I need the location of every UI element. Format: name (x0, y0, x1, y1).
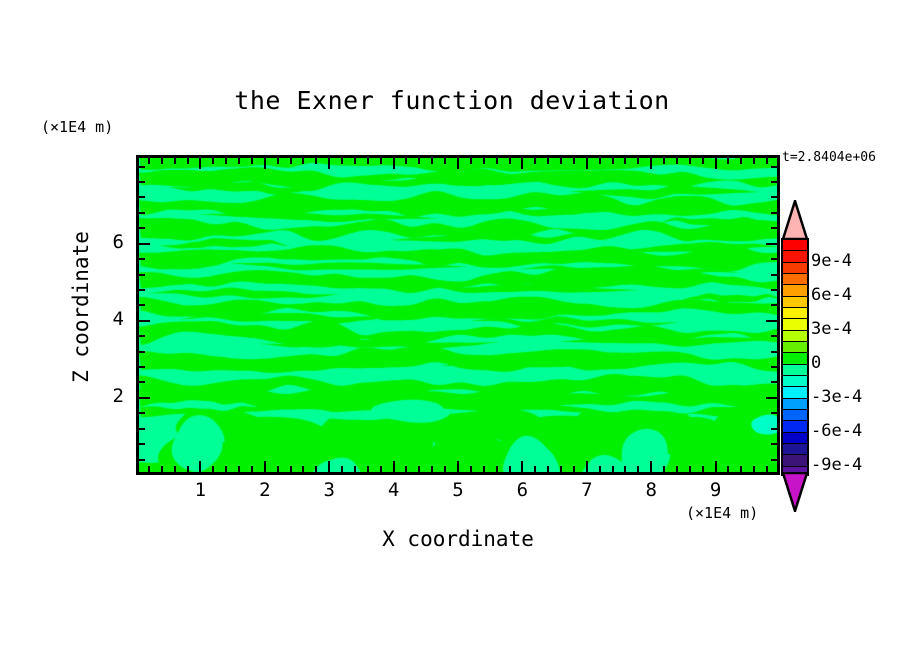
x-tick-top (405, 158, 407, 164)
x-tick-bottom (702, 466, 704, 472)
colorbar-bands (781, 238, 809, 476)
x-tick-bottom (637, 466, 639, 472)
x-tick-bottom (599, 466, 601, 472)
colorbar-band (783, 376, 807, 387)
x-tick-top (341, 158, 343, 164)
x-tick-bottom (315, 466, 317, 472)
x-tick-top (727, 158, 729, 164)
x-tick-top (148, 158, 150, 164)
colorbar-under-arrow-icon (781, 472, 809, 512)
x-tick-bottom (663, 466, 665, 472)
x-tick-bottom (727, 466, 729, 472)
x-tick-bottom (187, 466, 189, 472)
colorbar-band (783, 444, 807, 455)
y-axis-unit-label: (×1E4 m) (41, 118, 113, 136)
x-axis-unit-label: (×1E4 m) (686, 504, 758, 522)
x-tick-label: 9 (696, 479, 736, 501)
x-tick-top (715, 158, 717, 169)
x-tick-top (161, 158, 163, 164)
y-tick-left (139, 227, 145, 229)
x-tick-bottom (624, 466, 626, 472)
x-tick-bottom (405, 466, 407, 472)
x-tick-bottom (444, 466, 446, 472)
x-tick-bottom (367, 466, 369, 472)
x-tick-top (251, 158, 253, 164)
time-annotation: t=2.8404e+06 (782, 150, 876, 165)
y-tick-right (771, 428, 777, 430)
x-axis-title: X coordinate (136, 527, 780, 551)
y-tick-left (139, 459, 145, 461)
y-tick-right (771, 289, 777, 291)
x-tick-top (367, 158, 369, 164)
y-tick-right (771, 166, 777, 168)
x-tick-label: 4 (374, 479, 414, 501)
x-tick-bottom (161, 466, 163, 472)
colorbar-band (783, 455, 807, 466)
y-tick-left (139, 304, 145, 306)
x-tick-top (290, 158, 292, 164)
y-tick-right (771, 381, 777, 383)
colorbar-tick-label: 0 (811, 353, 821, 373)
y-tick-left (139, 443, 145, 445)
x-tick-top (277, 158, 279, 164)
colorbar-over-arrow-icon (781, 200, 809, 240)
colorbar-band (783, 331, 807, 342)
x-tick-bottom (225, 466, 227, 472)
x-tick-top (315, 158, 317, 164)
y-tick-left (139, 258, 145, 260)
x-tick-bottom (199, 461, 201, 472)
y-tick-left (139, 243, 150, 245)
y-tick-right (766, 320, 777, 322)
contour-field (139, 158, 780, 475)
x-tick-top (534, 158, 536, 164)
x-tick-label: 2 (245, 479, 285, 501)
x-tick-top (302, 158, 304, 164)
colorbar-tick-label: -6e-4 (811, 421, 862, 441)
x-tick-label: 1 (180, 479, 220, 501)
y-tick-right (771, 258, 777, 260)
x-tick-bottom (740, 466, 742, 472)
colorbar-band (783, 274, 807, 285)
x-tick-top (496, 158, 498, 164)
x-tick-top (521, 158, 523, 169)
x-tick-top (380, 158, 382, 164)
x-tick-top (676, 158, 678, 164)
x-tick-bottom (380, 466, 382, 472)
x-tick-bottom (418, 466, 420, 472)
x-tick-label: 5 (438, 479, 478, 501)
y-tick-label: 2 (84, 385, 124, 407)
x-tick-top (393, 158, 395, 169)
x-tick-bottom (277, 466, 279, 472)
colorbar-tick-label: 9e-4 (811, 251, 852, 271)
x-tick-bottom (521, 461, 523, 472)
y-tick-right (771, 351, 777, 353)
x-tick-bottom (715, 461, 717, 472)
x-tick-bottom (689, 466, 691, 472)
x-tick-bottom (341, 466, 343, 472)
y-tick-right (766, 243, 777, 245)
y-tick-left (139, 381, 145, 383)
x-tick-top (444, 158, 446, 164)
x-tick-top (650, 158, 652, 169)
x-tick-top (753, 158, 755, 164)
x-tick-top (573, 158, 575, 164)
x-tick-bottom (431, 466, 433, 472)
x-tick-top (470, 158, 472, 164)
x-tick-bottom (302, 466, 304, 472)
y-tick-right (771, 443, 777, 445)
x-tick-top (766, 158, 768, 164)
x-tick-top (599, 158, 601, 164)
x-tick-top (586, 158, 588, 169)
x-tick-bottom (573, 466, 575, 472)
x-tick-bottom (148, 466, 150, 472)
x-tick-bottom (650, 461, 652, 472)
y-tick-right (771, 335, 777, 337)
colorbar-band (783, 285, 807, 296)
x-tick-top (418, 158, 420, 164)
x-tick-top (483, 158, 485, 164)
colorbar-band (783, 433, 807, 444)
x-tick-top (354, 158, 356, 164)
x-tick-bottom (753, 466, 755, 472)
x-tick-label: 3 (309, 479, 349, 501)
colorbar-band (783, 240, 807, 251)
x-tick-bottom (393, 461, 395, 472)
x-tick-top (663, 158, 665, 164)
colorbar: 9e-46e-43e-40-3e-4-6e-4-9e-4 (781, 200, 809, 512)
x-tick-bottom (766, 466, 768, 472)
x-tick-bottom (328, 461, 330, 472)
colorbar-band (783, 263, 807, 274)
x-tick-top (689, 158, 691, 164)
y-tick-right (771, 412, 777, 414)
y-tick-left (139, 274, 145, 276)
x-tick-bottom (547, 466, 549, 472)
y-tick-left (139, 428, 145, 430)
y-tick-right (771, 227, 777, 229)
x-tick-bottom (586, 461, 588, 472)
x-tick-bottom (290, 466, 292, 472)
y-tick-right (771, 459, 777, 461)
x-tick-top (702, 158, 704, 164)
y-tick-left (139, 166, 145, 168)
x-tick-bottom (354, 466, 356, 472)
y-tick-left (139, 366, 145, 368)
y-tick-label: 4 (84, 308, 124, 330)
x-tick-bottom (174, 466, 176, 472)
contour-plot-figure: the Exner function deviation (×1E4 m) (×… (0, 0, 904, 654)
x-tick-bottom (676, 466, 678, 472)
x-tick-top (199, 158, 201, 169)
y-tick-left (139, 351, 145, 353)
y-tick-left (139, 212, 145, 214)
y-tick-right (771, 181, 777, 183)
x-tick-bottom (251, 466, 253, 472)
colorbar-tick-label: 3e-4 (811, 319, 852, 339)
y-tick-right (771, 366, 777, 368)
x-tick-bottom (470, 466, 472, 472)
y-tick-right (771, 196, 777, 198)
y-tick-right (771, 274, 777, 276)
x-tick-top (457, 158, 459, 169)
x-tick-bottom (483, 466, 485, 472)
colorbar-band (783, 319, 807, 330)
colorbar-tick-label: -9e-4 (811, 455, 862, 475)
colorbar-band (783, 410, 807, 421)
colorbar-band (783, 297, 807, 308)
colorbar-tick-label: -3e-4 (811, 387, 862, 407)
y-tick-label: 6 (84, 231, 124, 253)
x-tick-top (612, 158, 614, 164)
page-title: the Exner function deviation (0, 86, 904, 115)
x-tick-top (509, 158, 511, 164)
x-tick-top (637, 158, 639, 164)
colorbar-band (783, 353, 807, 364)
colorbar-band (783, 365, 807, 376)
colorbar-band (783, 342, 807, 353)
x-tick-top (740, 158, 742, 164)
x-tick-label: 6 (502, 479, 542, 501)
x-tick-top (264, 158, 266, 169)
x-tick-bottom (238, 466, 240, 472)
colorbar-band (783, 387, 807, 398)
y-tick-right (771, 212, 777, 214)
colorbar-tick-label: 6e-4 (811, 285, 852, 305)
colorbar-band (783, 251, 807, 262)
x-tick-bottom (496, 466, 498, 472)
x-tick-top (212, 158, 214, 164)
y-tick-left (139, 289, 145, 291)
plot-area (136, 155, 780, 475)
x-tick-label: 7 (567, 479, 607, 501)
x-tick-top (238, 158, 240, 164)
x-tick-bottom (612, 466, 614, 472)
x-tick-bottom (560, 466, 562, 472)
colorbar-band (783, 421, 807, 432)
x-tick-label: 8 (631, 479, 671, 501)
x-tick-top (174, 158, 176, 164)
colorbar-band (783, 399, 807, 410)
x-tick-top (624, 158, 626, 164)
y-tick-left (139, 412, 145, 414)
x-tick-bottom (212, 466, 214, 472)
x-tick-top (187, 158, 189, 164)
y-tick-right (766, 397, 777, 399)
y-tick-left (139, 196, 145, 198)
colorbar-band (783, 308, 807, 319)
y-tick-left (139, 335, 145, 337)
x-tick-top (328, 158, 330, 169)
x-tick-bottom (457, 461, 459, 472)
x-tick-top (225, 158, 227, 164)
y-tick-left (139, 320, 150, 322)
x-tick-top (560, 158, 562, 164)
y-tick-left (139, 397, 150, 399)
x-tick-bottom (509, 466, 511, 472)
x-tick-top (547, 158, 549, 164)
y-tick-left (139, 181, 145, 183)
x-tick-top (431, 158, 433, 164)
y-tick-right (771, 304, 777, 306)
x-tick-bottom (534, 466, 536, 472)
x-tick-bottom (264, 461, 266, 472)
